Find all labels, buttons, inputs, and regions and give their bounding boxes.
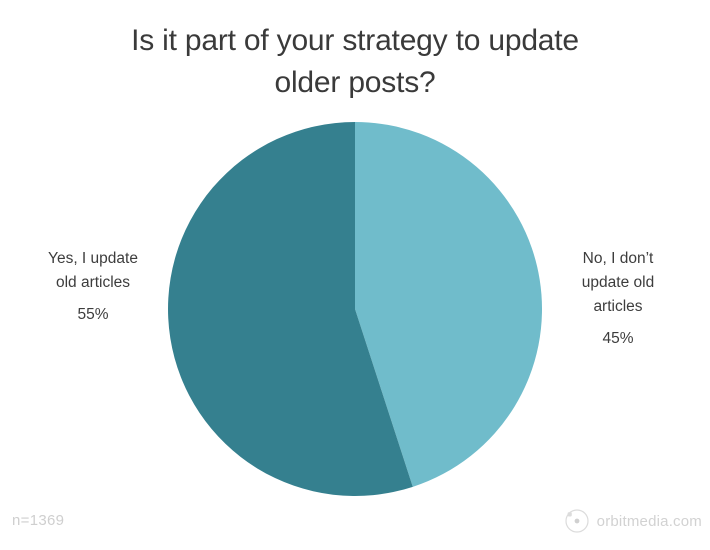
chart-canvas: Is it part of your strategy to update ol…	[0, 0, 710, 550]
brand-watermark[interactable]: orbitmedia.com	[564, 508, 702, 534]
pie-label-no-text: No, I don’t update old articles	[582, 250, 654, 315]
brand-text: orbitmedia.com	[597, 513, 702, 530]
sample-size-label: n=1369	[12, 512, 64, 529]
pie-label-yes-percent: 55%	[18, 303, 168, 327]
pie-label-yes: Yes, I update old articles 55%	[18, 247, 168, 327]
pie-label-no-percent: 45%	[548, 327, 688, 351]
pie-label-yes-text: Yes, I update old articles	[48, 250, 138, 291]
orbit-circle-icon	[564, 508, 590, 534]
pie-label-no: No, I don’t update old articles 45%	[548, 247, 688, 351]
